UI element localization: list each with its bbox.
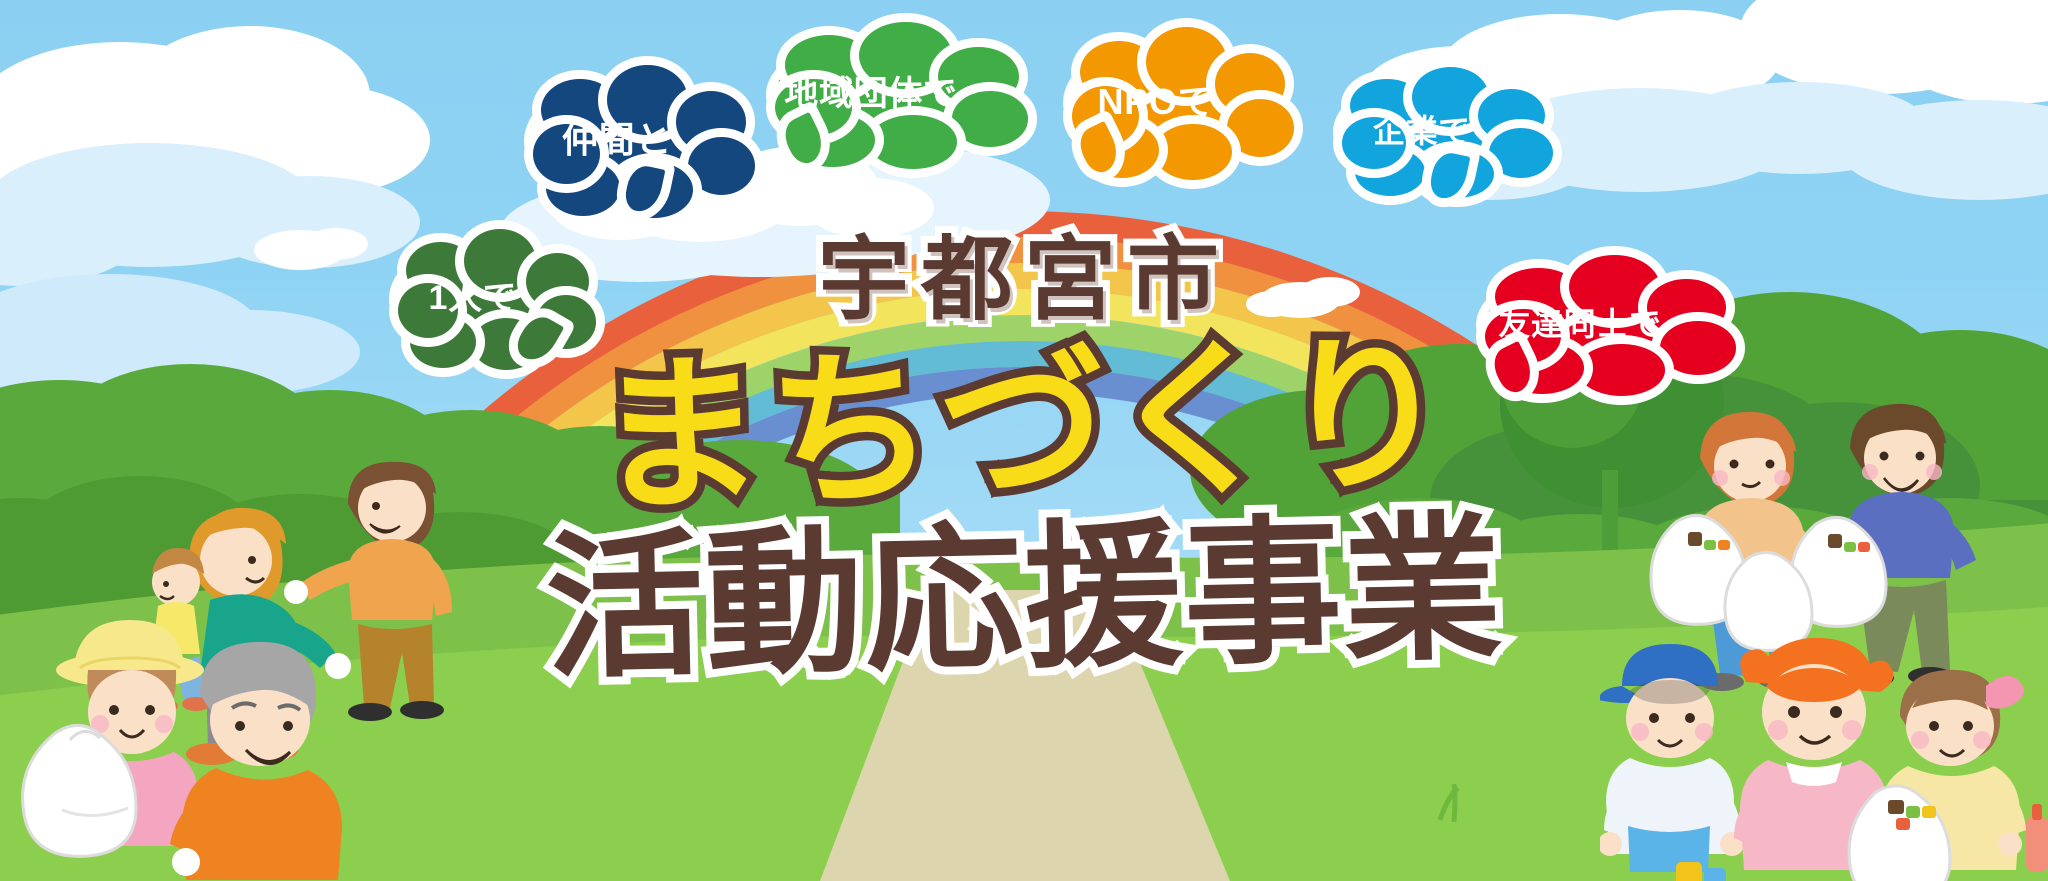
bubble-lobe [1578,344,1665,396]
bubble-company-label: 企業で [1373,115,1471,147]
bubble-lobe [1154,124,1231,180]
bubble-npo: NPOで [1072,52,1240,152]
bubble-lobe [1660,321,1736,374]
bubble-lobe [688,137,755,195]
bubble-friends-label: 友達同士で [1498,308,1661,340]
bubble-alone: 1人で [398,252,548,344]
page-title-line2: 活動応援事業 [543,460,1505,709]
banner-image: 宇都宮市 まちづくり 活動応援事業 1人で 仲間と 地域団体で NPOで 企業で… [0,0,2048,881]
bubble-npo-label: NPOで [1098,84,1215,120]
bubble-local-group-label: 地域団体で [784,77,957,111]
bubble-friends: 友達同士で [1485,278,1675,370]
bubble-with-peers: 仲間と [533,90,701,190]
bubble-lobe [952,91,1029,147]
person-boy-cap [1600,644,1744,872]
bottle-prop [2026,804,2048,872]
garbage-bag-left [10,700,180,870]
bubble-company: 企業で [1342,88,1502,174]
bubble-lobe [1227,99,1294,157]
can-prop [1676,862,1726,881]
bubble-lobe [869,115,957,169]
bubble-with-peers-label: 仲間と [562,122,672,158]
right-kids-group [1600,600,2048,881]
bubble-alone-label: 1人で [429,281,518,315]
bubble-local-group: 地域団体で [775,46,967,142]
